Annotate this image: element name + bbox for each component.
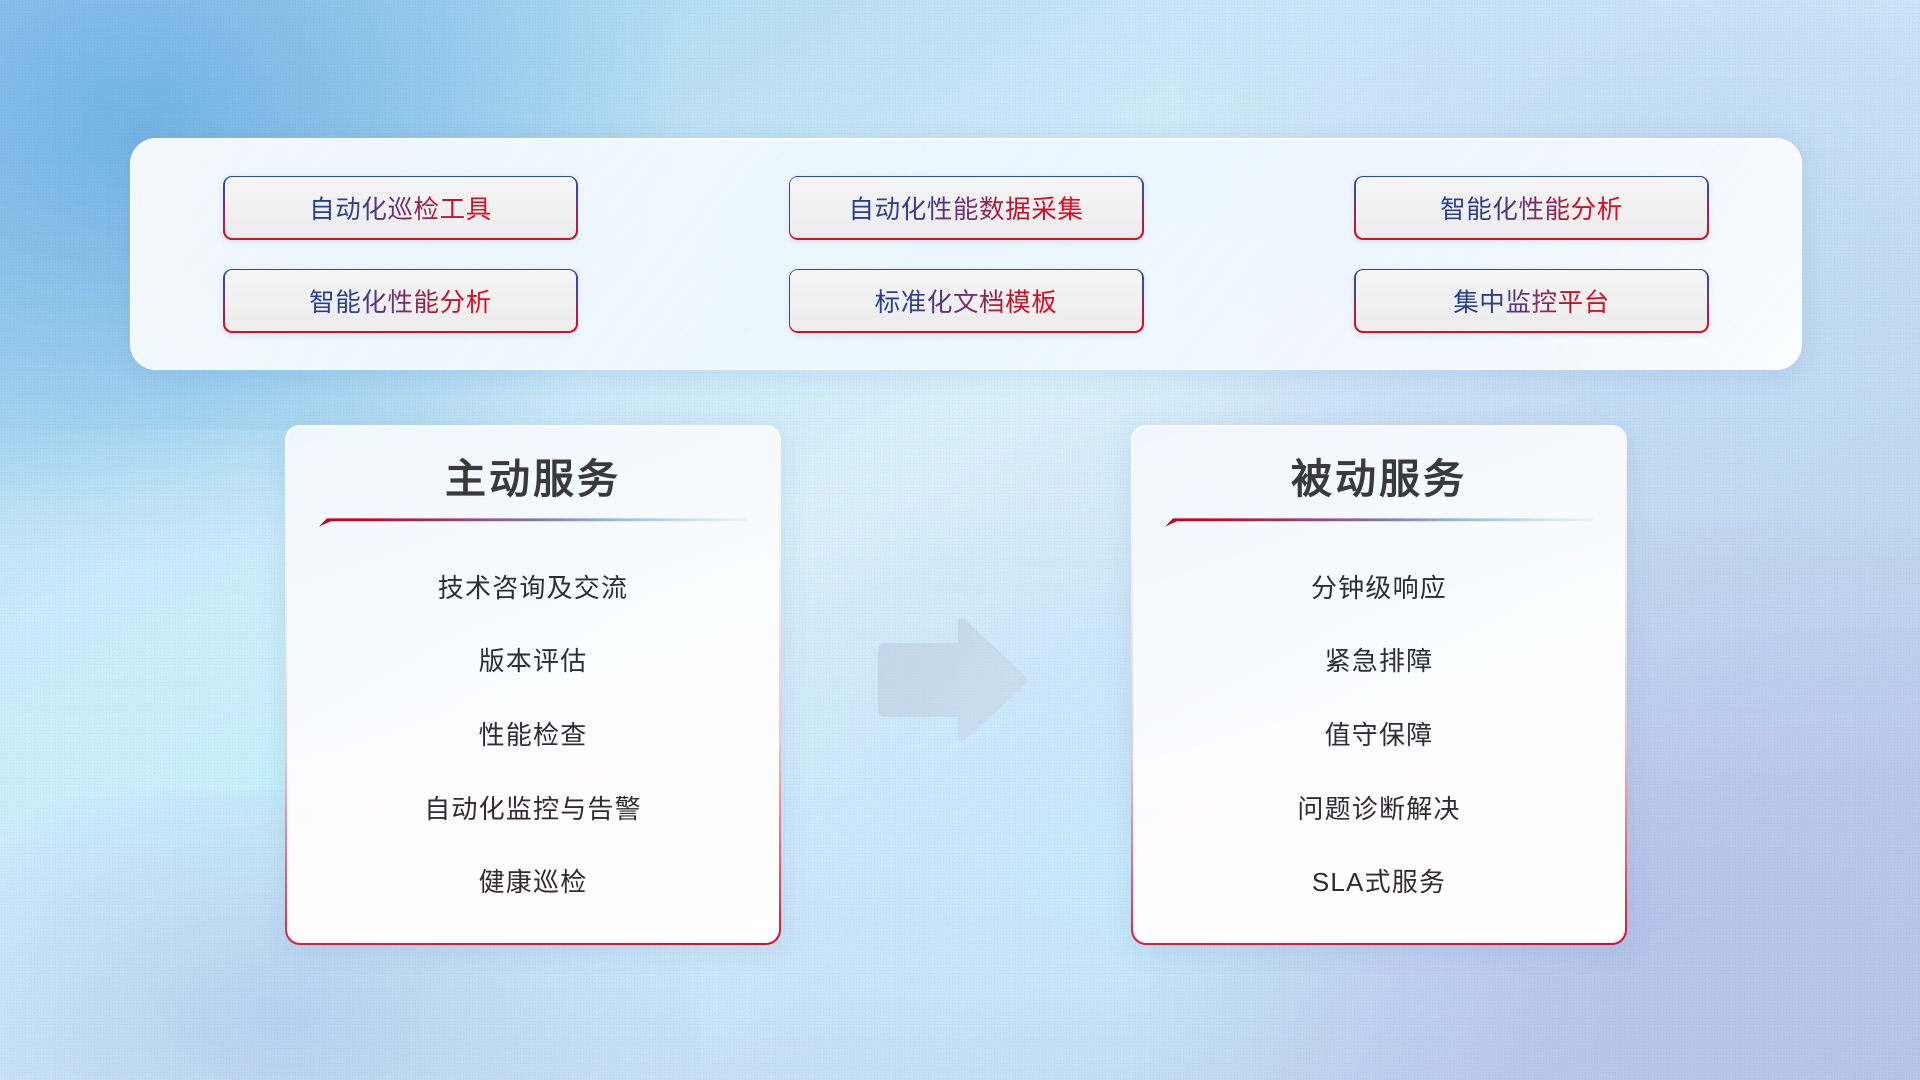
card-title: 主动服务 [319,453,748,505]
list-item: 技术咨询及交流 [438,574,628,603]
card-inner: 被动服务 分钟级响应 紧急排障 [1133,427,1626,944]
list-item: 健康巡检 [479,868,588,897]
list-item: SLA式服务 [1312,868,1446,897]
capability-chip-label: 集中监控平台 [1453,282,1610,319]
capability-chip-label: 标准化文档模板 [875,282,1058,319]
list-item: 性能检查 [479,721,588,750]
card-title: 被动服务 [1165,453,1594,505]
chip-inner: 智能化性能分析 [225,270,577,331]
chip-inner: 自动化巡检工具 [225,177,577,238]
service-card-reactive: 被动服务 分钟级响应 紧急排障 [1131,425,1627,945]
chip-inner: 自动化性能数据采集 [790,177,1142,238]
capability-chip-intelligent-performance-analysis[interactable]: 智能化性能分析 [1354,176,1709,240]
chip-inner: 标准化文档模板 [790,270,1142,331]
capability-chip-label: 智能化性能分析 [309,282,492,319]
card-inner: 主动服务 技术咨询及交流 版本评估 [287,427,780,944]
card-title-divider [319,518,748,527]
capability-row-1: 自动化巡检工具 自动化性能数据采集 智能化性能分析 [223,176,1709,240]
list-item: 紧急排障 [1325,647,1434,676]
card-title-divider [1165,518,1594,527]
chip-inner: 智能化性能分析 [1356,177,1708,238]
list-item: 分钟级响应 [1311,574,1447,603]
capability-panel: 自动化巡检工具 自动化性能数据采集 智能化性能分析 智能化性能分析 标准化文档模… [130,138,1802,370]
list-item: 值守保障 [1325,721,1434,750]
list-item: 版本评估 [479,647,588,676]
card-item-list: 分钟级响应 紧急排障 值守保障 问题诊断解决 SLA式服务 [1165,551,1594,919]
capability-row-2: 智能化性能分析 标准化文档模板 集中监控平台 [223,269,1709,333]
capability-chip-auto-performance-collection[interactable]: 自动化性能数据采集 [789,176,1144,240]
service-card-proactive: 主动服务 技术咨询及交流 版本评估 [285,425,781,945]
list-item: 自动化监控与告警 [424,795,642,824]
capability-chip-label: 智能化性能分析 [1440,189,1623,226]
capability-chip-auto-inspection-tool[interactable]: 自动化巡检工具 [223,176,578,240]
chip-inner: 集中监控平台 [1356,270,1708,331]
right-arrow-icon [866,614,1031,746]
capability-chip-standard-doc-template[interactable]: 标准化文档模板 [789,269,1144,333]
card-item-list: 技术咨询及交流 版本评估 性能检查 自动化监控与告警 健康巡检 [319,551,748,919]
capability-chip-label: 自动化性能数据采集 [849,189,1084,226]
capability-chip-intelligent-performance-analysis-2[interactable]: 智能化性能分析 [223,269,578,333]
list-item: 问题诊断解决 [1297,795,1460,824]
capability-chip-central-monitoring-platform[interactable]: 集中监控平台 [1354,269,1709,333]
capability-chip-label: 自动化巡检工具 [309,189,492,226]
